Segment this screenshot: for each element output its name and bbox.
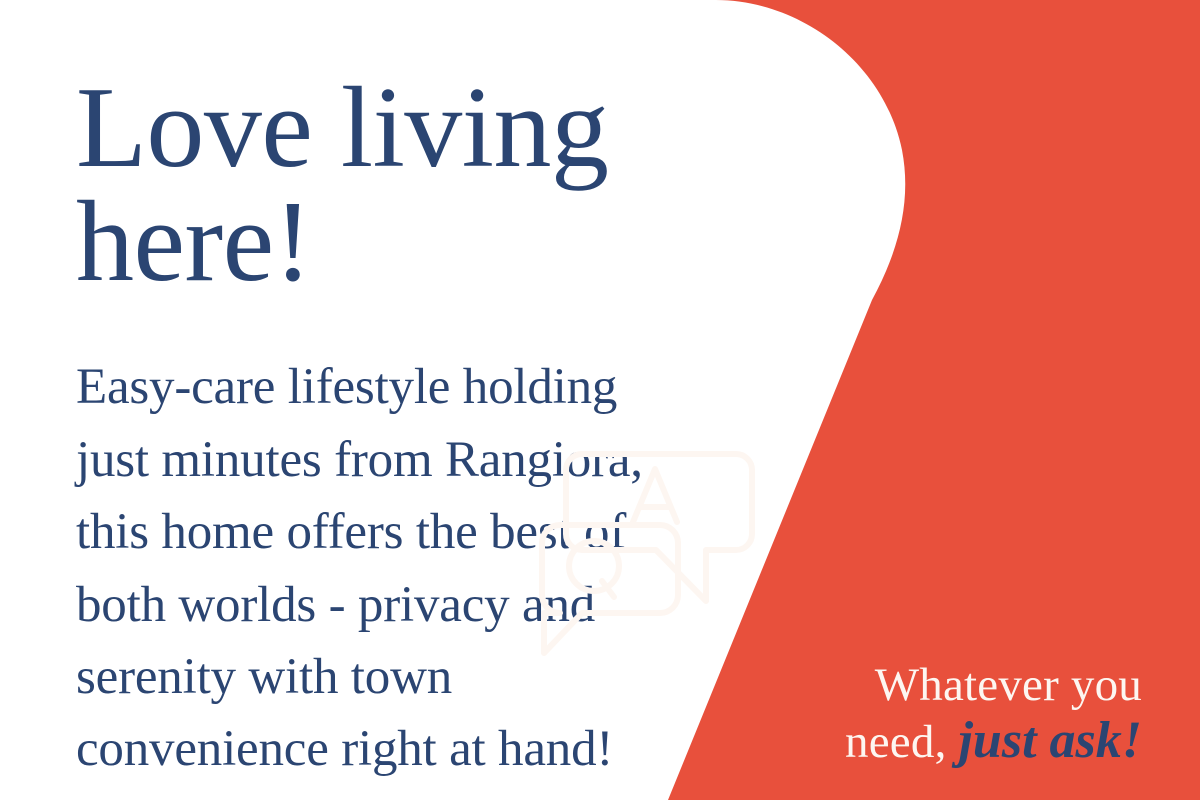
letter-a-glyph [633, 469, 677, 522]
qa-speech-bubbles-icon [520, 425, 760, 665]
tagline-line-1: Whatever you [0, 660, 1142, 711]
tagline-accent: just ask! [958, 712, 1142, 769]
qa-icon-svg [520, 425, 760, 665]
promo-card: Love living here! Easy-care lifestyle ho… [0, 0, 1200, 800]
tagline-line-2: need, just ask! [0, 713, 1142, 769]
page-title: Love living here! [76, 72, 736, 299]
tagline-line-2-plain: need, [845, 716, 958, 768]
tagline: Whatever you need, just ask! [0, 660, 1200, 769]
